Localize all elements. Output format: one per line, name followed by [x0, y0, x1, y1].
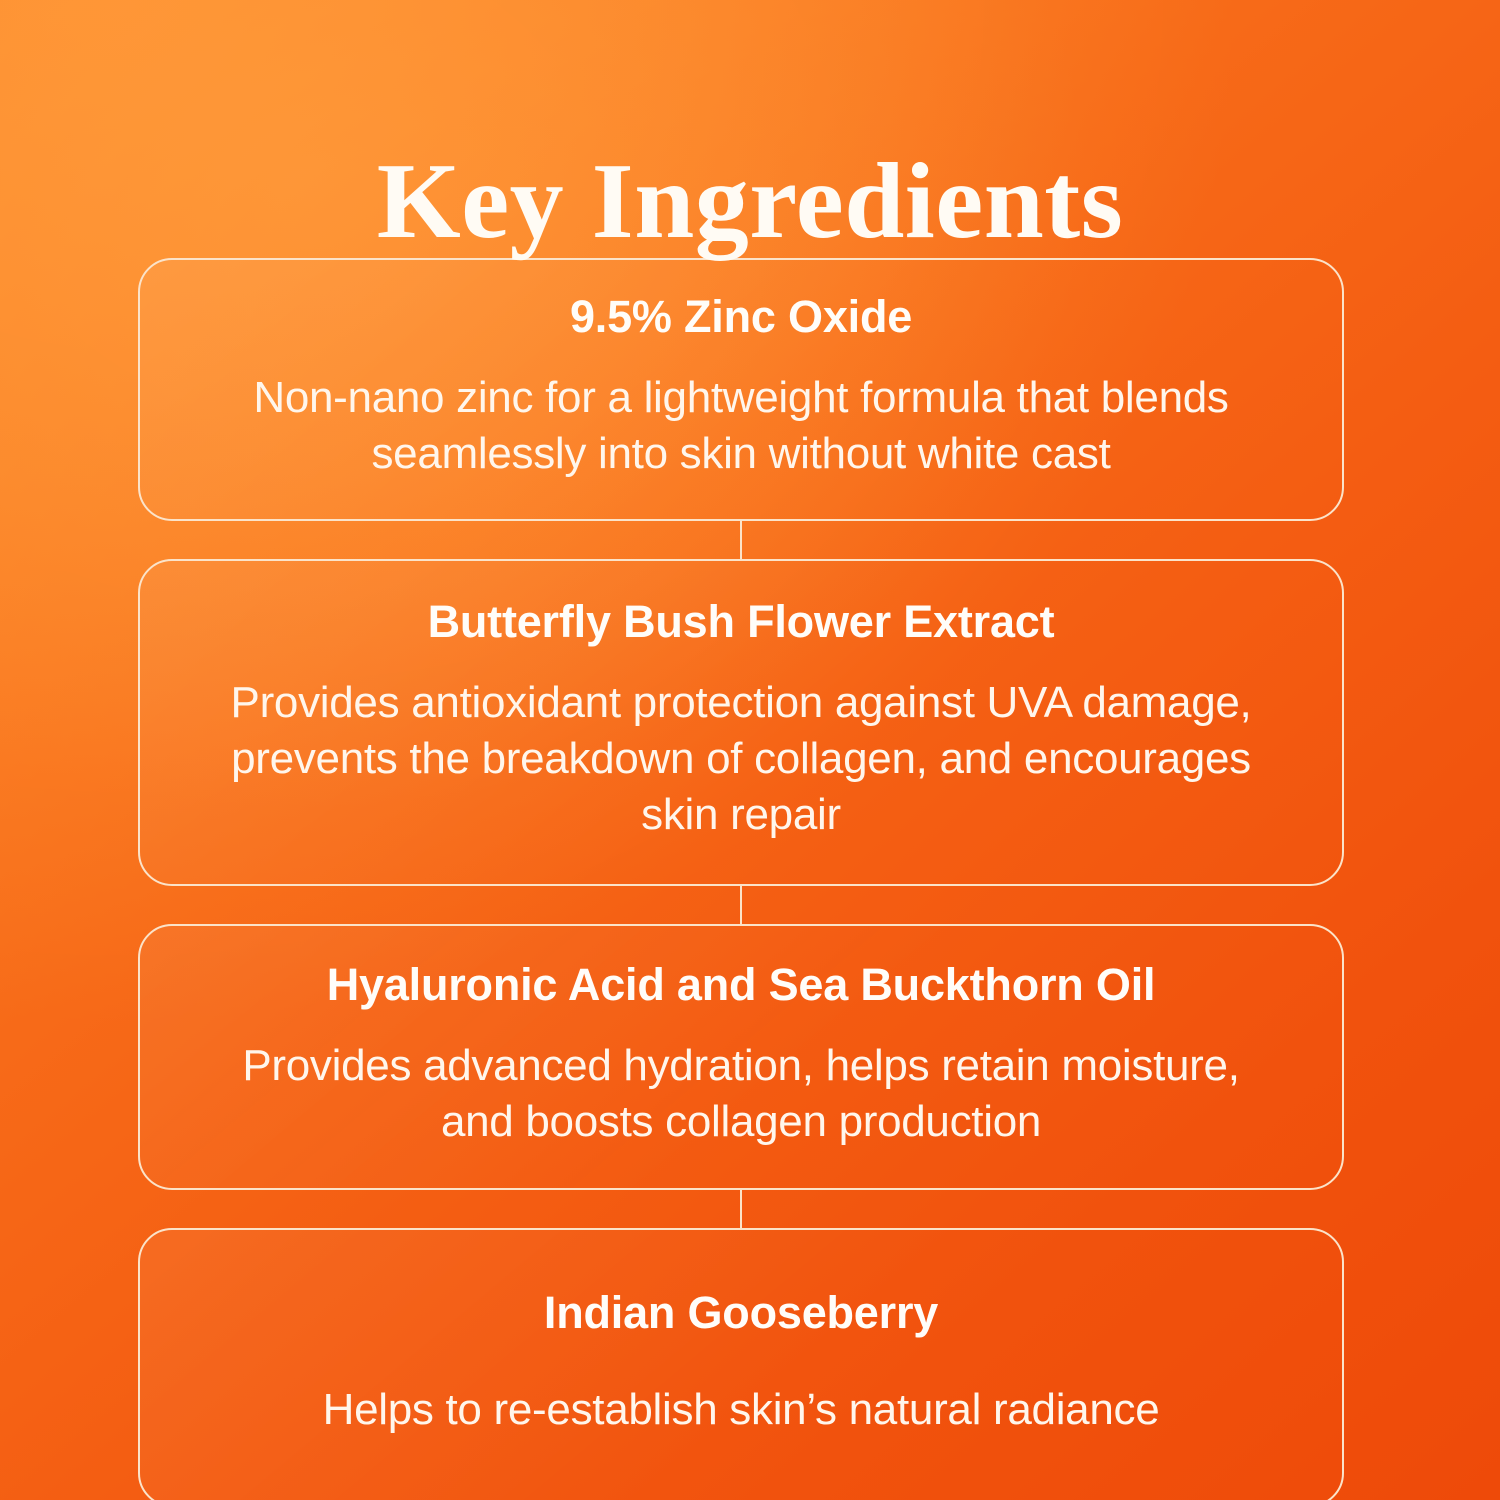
- ingredient-description: Helps to re-establish skin’s natural rad…: [221, 1382, 1261, 1438]
- ingredient-card-stack: 9.5% Zinc Oxide Non-nano zinc for a ligh…: [138, 258, 1344, 1500]
- ingredient-description: Non-nano zinc for a lightweight formula …: [221, 370, 1261, 483]
- ingredient-title: 9.5% Zinc Oxide: [196, 290, 1286, 344]
- ingredient-description: Provides antioxidant protection against …: [221, 675, 1261, 844]
- card-connector-line: [138, 1190, 1344, 1228]
- ingredient-title: Hyaluronic Acid and Sea Buckthorn Oil: [196, 958, 1286, 1012]
- ingredient-card-indian-gooseberry: Indian Gooseberry Helps to re-establish …: [138, 1228, 1344, 1500]
- page-title: Key Ingredients: [0, 144, 1500, 261]
- card-connector-line: [138, 886, 1344, 924]
- card-connector-line: [138, 521, 1344, 559]
- ingredient-card-hyaluronic-acid-sea-buckthorn-oil: Hyaluronic Acid and Sea Buckthorn Oil Pr…: [138, 924, 1344, 1191]
- ingredient-description: Provides advanced hydration, helps retai…: [221, 1038, 1261, 1151]
- key-ingredients-poster: Key Ingredients 9.5% Zinc Oxide Non-nano…: [0, 0, 1500, 1500]
- ingredient-title: Butterfly Bush Flower Extract: [196, 595, 1286, 649]
- ingredient-card-butterfly-bush-flower-extract: Butterfly Bush Flower Extract Provides a…: [138, 559, 1344, 886]
- ingredient-card-zinc-oxide: 9.5% Zinc Oxide Non-nano zinc for a ligh…: [138, 258, 1344, 521]
- ingredient-title: Indian Gooseberry: [196, 1286, 1286, 1340]
